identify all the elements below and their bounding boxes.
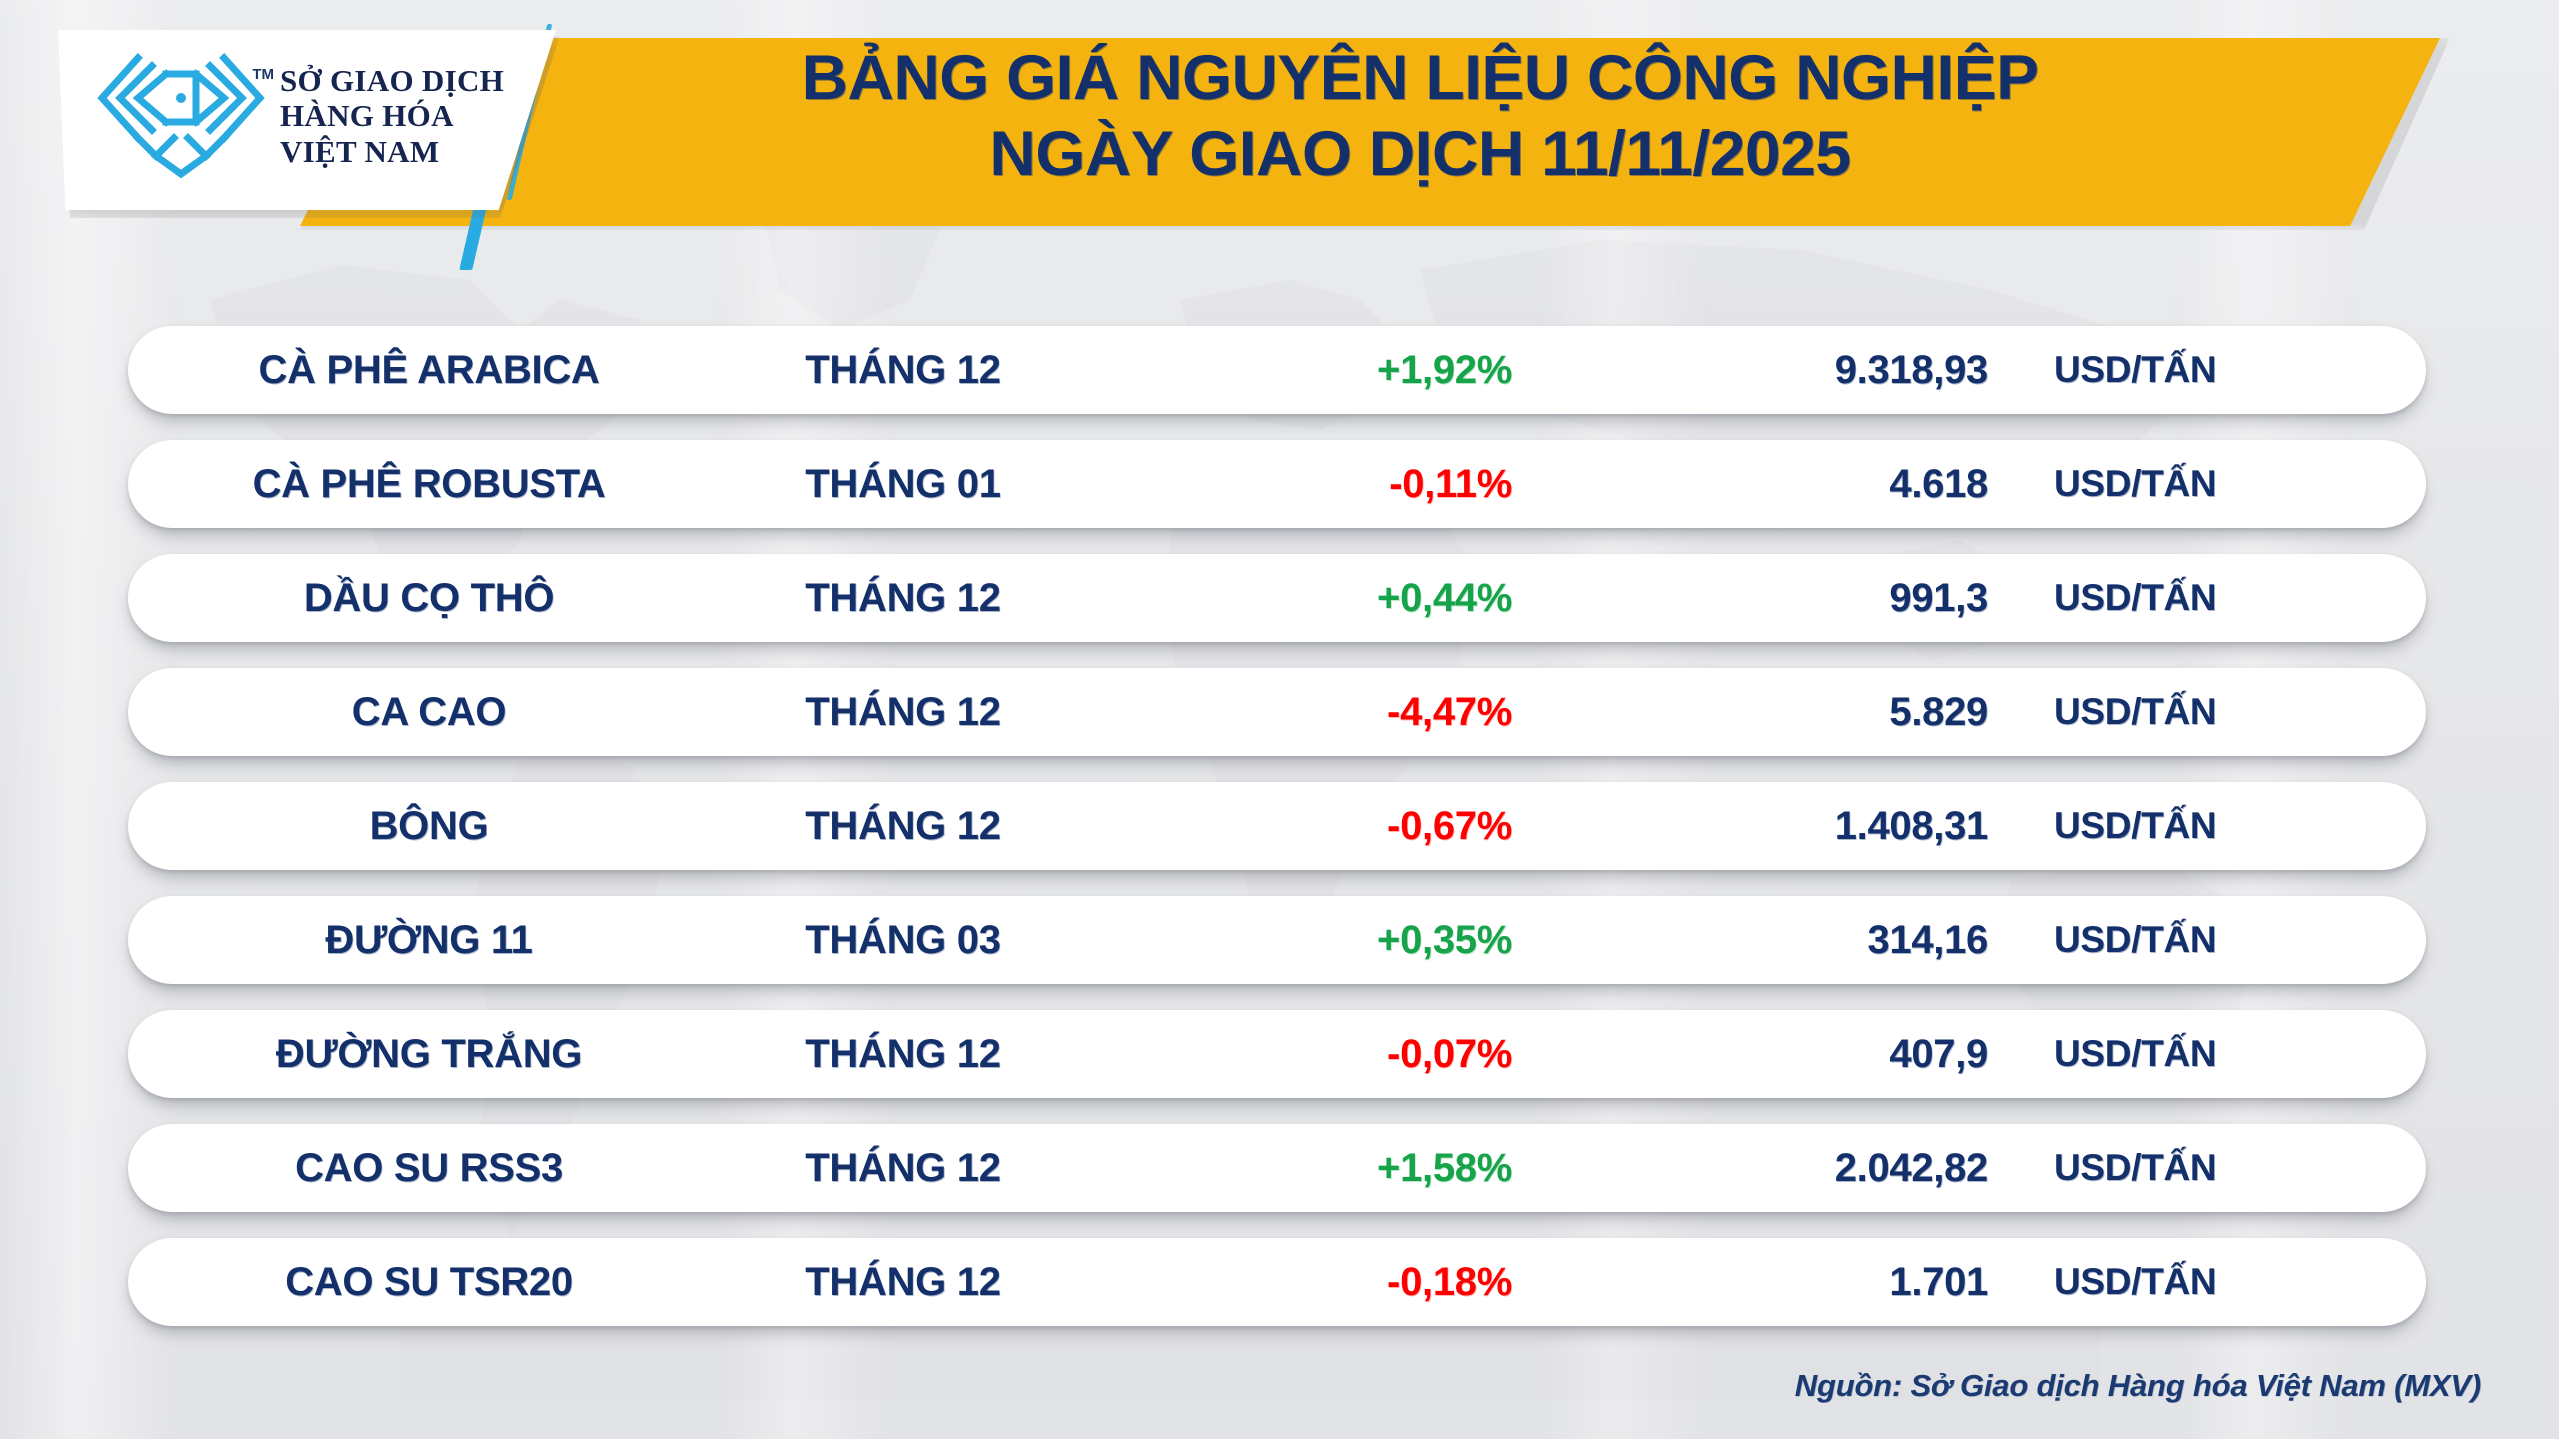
change-percent: -4,47% — [1118, 690, 1568, 735]
price-value: 2.042,82 — [1568, 1146, 1988, 1191]
price-value: 9.318,93 — [1568, 348, 1988, 393]
price-value: 5.829 — [1568, 690, 1988, 735]
commodity-name: CÀ PHÊ ARABICA — [128, 348, 688, 393]
change-percent: +1,58% — [1118, 1146, 1568, 1191]
change-percent: -0,67% — [1118, 804, 1568, 849]
table-row-wrapper: CAO SU TSR20THÁNG 12-0,18%1.701USD/TẤN — [0, 1238, 2559, 1352]
table-row-wrapper: CAO SU RSS3THÁNG 12+1,58%2.042,82USD/TẤN — [0, 1124, 2559, 1238]
commodity-name: BÔNG — [128, 804, 688, 849]
commodity-name: CAO SU RSS3 — [128, 1146, 688, 1191]
contract-month: THÁNG 01 — [688, 462, 1118, 507]
contract-month: THÁNG 12 — [688, 1146, 1118, 1191]
commodity-name: DẦU CỌ THÔ — [128, 576, 688, 621]
price-board-page: TM SỞ GIAO DỊCH HÀNG HÓA VIỆT NAM BẢNG G… — [0, 0, 2559, 1439]
table-row-wrapper: ĐƯỜNG TRẮNGTHÁNG 12-0,07%407,9USD/TẤN — [0, 1010, 2559, 1124]
table-row[interactable]: ĐƯỜNG TRẮNGTHÁNG 12-0,07%407,9USD/TẤN — [128, 1010, 2426, 1098]
table-row-wrapper: CA CAOTHÁNG 12-4,47%5.829USD/TẤN — [0, 668, 2559, 782]
contract-month: THÁNG 12 — [688, 1260, 1118, 1305]
table-row-wrapper: ĐƯỜNG 11THÁNG 03+0,35%314,16USD/TẤN — [0, 896, 2559, 1010]
contract-month: THÁNG 12 — [688, 576, 1118, 621]
price-unit: USD/TẤN — [1988, 1147, 2368, 1189]
table-row-wrapper: DẦU CỌ THÔTHÁNG 12+0,44%991,3USD/TẤN — [0, 554, 2559, 668]
source-note: Nguồn: Sở Giao dịch Hàng hóa Việt Nam (M… — [1795, 1368, 2481, 1404]
change-percent: +0,35% — [1118, 918, 1568, 963]
table-row-wrapper: BÔNGTHÁNG 12-0,67%1.408,31USD/TẤN — [0, 782, 2559, 896]
table-row[interactable]: DẦU CỌ THÔTHÁNG 12+0,44%991,3USD/TẤN — [128, 554, 2426, 642]
price-unit: USD/TẤN — [1988, 1033, 2368, 1075]
table-row[interactable]: CÀ PHÊ ROBUSTATHÁNG 01-0,11%4.618USD/TẤN — [128, 440, 2426, 528]
commodity-name: CA CAO — [128, 690, 688, 735]
mxv-logo-icon: TM — [92, 52, 270, 180]
price-table: CÀ PHÊ ARABICATHÁNG 12+1,92%9.318,93USD/… — [0, 326, 2559, 1352]
table-row[interactable]: CAO SU TSR20THÁNG 12-0,18%1.701USD/TẤN — [128, 1238, 2426, 1326]
price-unit: USD/TẤN — [1988, 919, 2368, 961]
table-row-wrapper: CÀ PHÊ ARABICATHÁNG 12+1,92%9.318,93USD/… — [0, 326, 2559, 440]
price-value: 314,16 — [1568, 918, 1988, 963]
price-value: 4.618 — [1568, 462, 1988, 507]
page-title: BẢNG GIÁ NGUYÊN LIỆU CÔNG NGHIỆP NGÀY GI… — [480, 44, 2360, 188]
price-unit: USD/TẤN — [1988, 463, 2368, 505]
price-unit: USD/TẤN — [1988, 691, 2368, 733]
title-line-1: BẢNG GIÁ NGUYÊN LIỆU CÔNG NGHIỆP — [461, 44, 2379, 112]
contract-month: THÁNG 12 — [688, 804, 1118, 849]
change-percent: -0,18% — [1118, 1260, 1568, 1305]
price-unit: USD/TẤN — [1988, 349, 2368, 391]
table-row[interactable]: CA CAOTHÁNG 12-4,47%5.829USD/TẤN — [128, 668, 2426, 756]
mxv-logo: TM SỞ GIAO DỊCH HÀNG HÓA VIỆT NAM — [92, 52, 504, 180]
contract-month: THÁNG 12 — [688, 1032, 1118, 1077]
change-percent: -0,07% — [1118, 1032, 1568, 1077]
contract-month: THÁNG 12 — [688, 348, 1118, 393]
price-value: 991,3 — [1568, 576, 1988, 621]
price-value: 407,9 — [1568, 1032, 1988, 1077]
contract-month: THÁNG 03 — [688, 918, 1118, 963]
table-row[interactable]: CAO SU RSS3THÁNG 12+1,58%2.042,82USD/TẤN — [128, 1124, 2426, 1212]
commodity-name: CAO SU TSR20 — [128, 1260, 688, 1305]
price-value: 1.408,31 — [1568, 804, 1988, 849]
change-percent: +0,44% — [1118, 576, 1568, 621]
title-line-2: NGÀY GIAO DỊCH 11/11/2025 — [461, 120, 2379, 188]
price-unit: USD/TẤN — [1988, 1261, 2368, 1303]
table-row[interactable]: ĐƯỜNG 11THÁNG 03+0,35%314,16USD/TẤN — [128, 896, 2426, 984]
price-value: 1.701 — [1568, 1260, 1988, 1305]
commodity-name: ĐƯỜNG 11 — [128, 918, 688, 963]
trademark-symbol: TM — [252, 66, 274, 83]
table-row-wrapper: CÀ PHÊ ROBUSTATHÁNG 01-0,11%4.618USD/TẤN — [0, 440, 2559, 554]
change-percent: +1,92% — [1118, 348, 1568, 393]
price-unit: USD/TẤN — [1988, 577, 2368, 619]
contract-month: THÁNG 12 — [688, 690, 1118, 735]
commodity-name: CÀ PHÊ ROBUSTA — [128, 462, 688, 507]
table-row[interactable]: CÀ PHÊ ARABICATHÁNG 12+1,92%9.318,93USD/… — [128, 326, 2426, 414]
change-percent: -0,11% — [1118, 462, 1568, 507]
commodity-name: ĐƯỜNG TRẮNG — [128, 1032, 688, 1077]
price-unit: USD/TẤN — [1988, 805, 2368, 847]
table-row[interactable]: BÔNGTHÁNG 12-0,67%1.408,31USD/TẤN — [128, 782, 2426, 870]
page-header: TM SỞ GIAO DỊCH HÀNG HÓA VIỆT NAM BẢNG G… — [0, 0, 2559, 238]
